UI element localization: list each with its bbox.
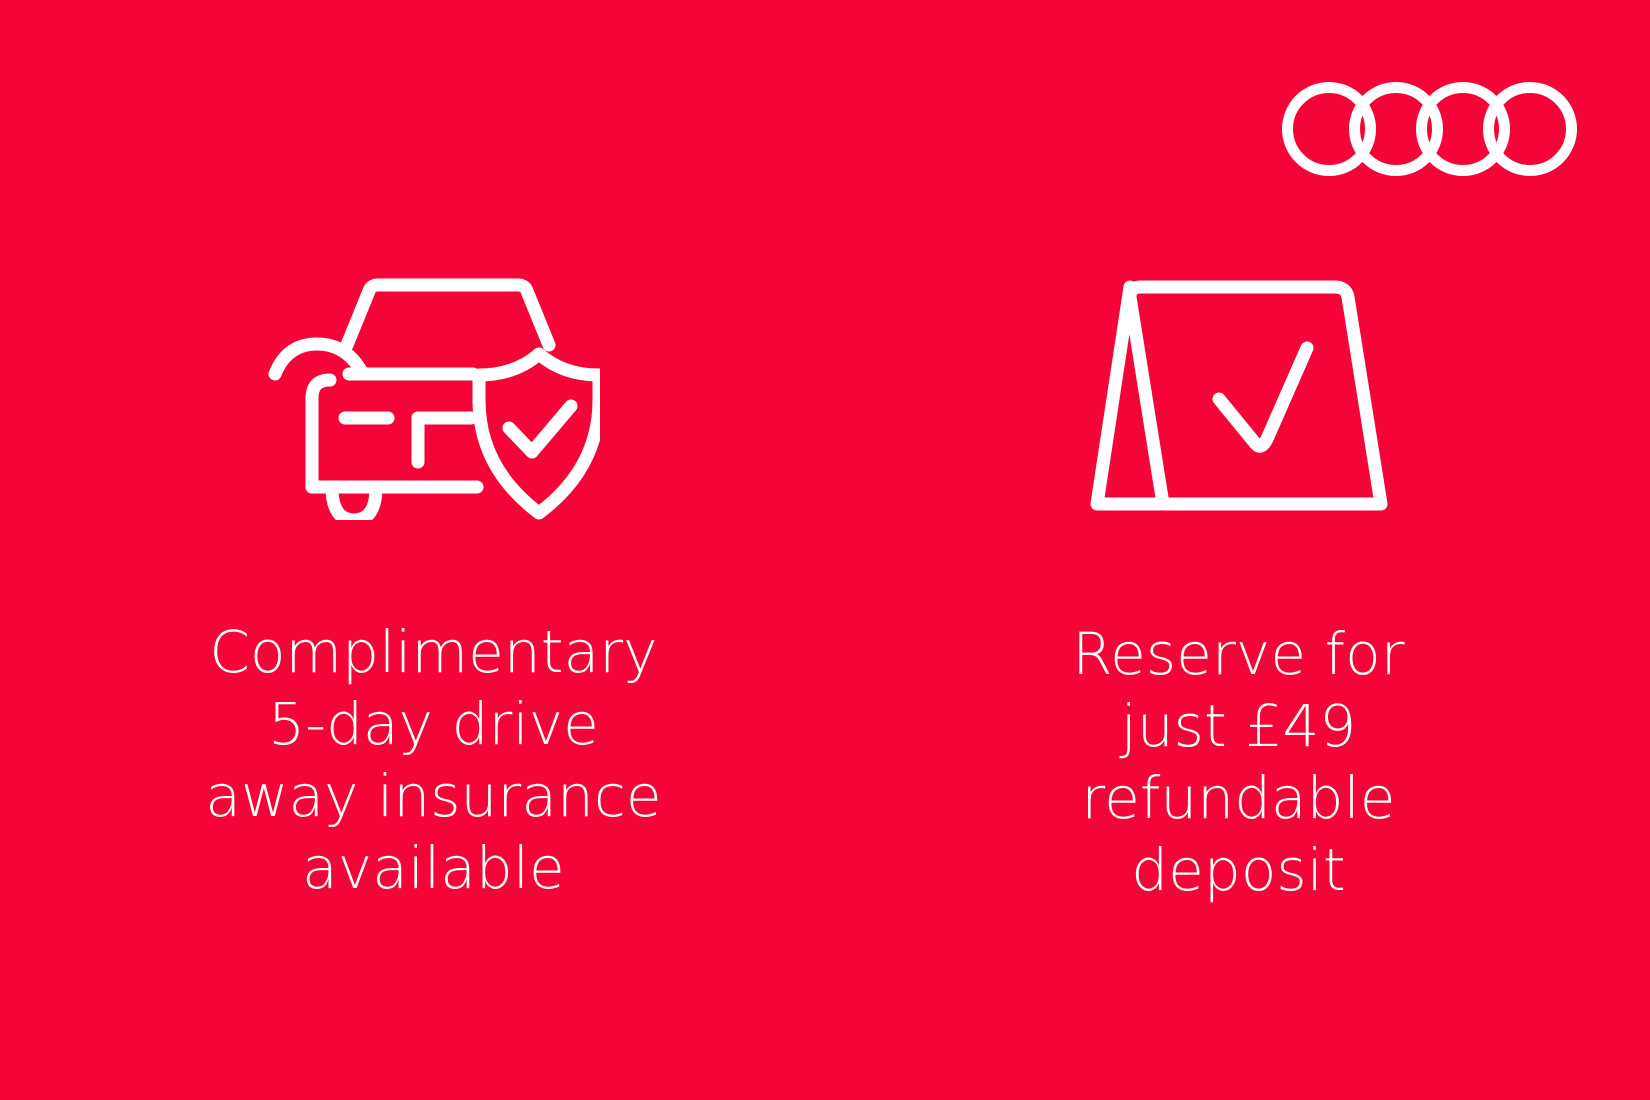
car-shield-icon: [268, 272, 600, 520]
shield-checkmark-icon: [509, 406, 571, 452]
card-checkmark-icon: [1219, 348, 1307, 446]
promo-panel: Complimentary 5-day drive away insurance…: [0, 0, 1650, 1100]
feature-deposit-caption: Reserve for just £49 refundable deposit: [979, 618, 1499, 906]
feature-deposit: Reserve for just £49 refundable deposit: [827, 0, 1650, 906]
feature-insurance-caption: Complimentary 5-day drive away insurance…: [124, 616, 744, 904]
shield-outline: [479, 354, 599, 513]
card-front-panel: [1130, 287, 1381, 504]
feature-list: Complimentary 5-day drive away insurance…: [0, 0, 1650, 1100]
feature-insurance: Complimentary 5-day drive away insurance…: [22, 0, 845, 904]
reserve-card-icon: [1089, 275, 1389, 518]
